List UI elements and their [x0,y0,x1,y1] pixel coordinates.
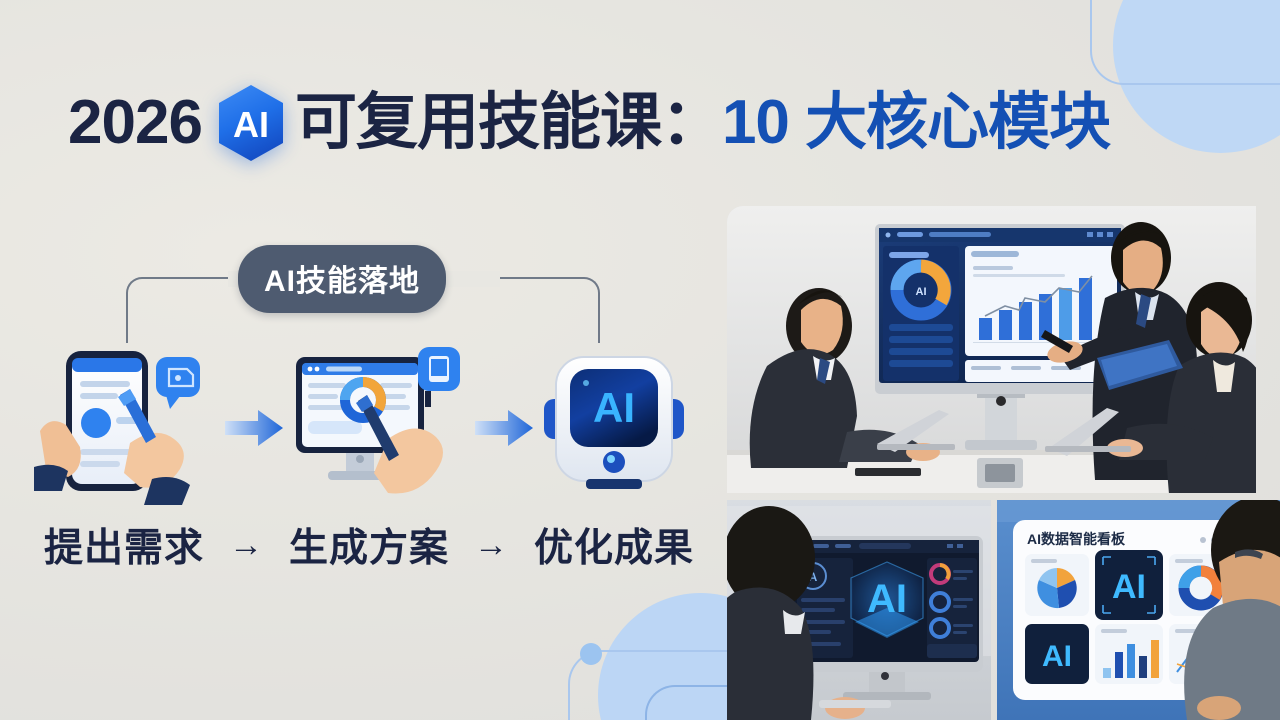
phone-stylus-chat-icon [34,343,224,513]
top-right-line-decoration [1090,0,1280,85]
office-meeting-dashboard-photo: AI [727,206,1256,493]
flow-step-labels: 提出需求 → 生成方案 → 优化成果 [44,517,694,573]
ai-dashboard-board-photo: AI数据智能看板 AI AI [997,500,1280,720]
svg-text:AI: AI [867,577,907,621]
title-year: 2026 [68,92,202,154]
svg-text:AI: AI [593,384,635,431]
title-highlight: 10 大核心模块 [722,92,1110,154]
step-separator-1: → [229,526,264,565]
top-right-circle-decoration [1113,0,1280,153]
svg-text:AI: AI [916,286,927,298]
bottom-dot-decoration [580,643,602,665]
title-middle: 可复用技能课： [295,92,722,154]
flow-pill-badge: AI技能落地 [238,245,446,313]
step-separator-2: → [474,526,509,565]
step-label-2: 生成方案 [289,517,449,573]
blue-gradient-arrow-icon [225,408,283,448]
man-at-imac-ai-hologram-photo: A AI [727,500,991,720]
step-label-1: 提出需求 [44,517,204,573]
step-label-3: 优化成果 [534,517,694,573]
ai-robot-head-icon: AI [534,343,694,513]
monitor-dashboard-hand-icon [284,343,474,513]
blue-gradient-arrow-icon-2 [475,408,533,448]
svg-text:AI数据智能看板: AI数据智能看板 [1027,531,1126,547]
page-title: 2026 AI 可复用技能课： 10 大核心模块 [68,83,1110,163]
photo-collage: AI [727,206,1280,720]
bottom-outer-line-decoration [568,650,753,720]
svg-text:AI: AI [1112,568,1146,606]
svg-text:AI: AI [233,104,269,145]
flow-diagram: AI技能落地 [0,195,700,595]
flow-icons-row: AI [34,343,694,513]
svg-text:AI: AI [1042,640,1072,673]
ai-hexagon-badge-icon: AI [214,83,288,163]
